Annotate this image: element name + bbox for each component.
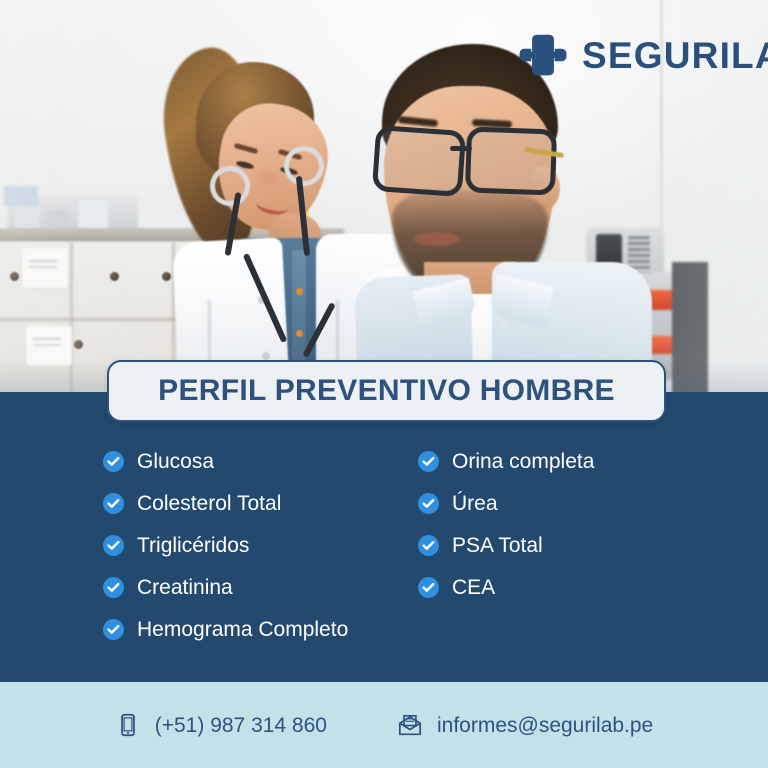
clutter-item	[78, 200, 108, 230]
check-circle-icon	[103, 451, 124, 472]
list-item: Hemograma Completo	[103, 608, 360, 650]
list-item-label: Hemograma Completo	[137, 619, 348, 640]
cabinet-knob	[162, 272, 171, 281]
envelope-icon	[397, 712, 423, 738]
test-list-container: Glucosa Colesterol Total Triglicéridos C…	[0, 440, 768, 650]
cabinet-divider	[70, 242, 73, 400]
list-item: Triglicéridos	[103, 524, 360, 566]
posted-note	[22, 248, 68, 288]
list-item-label: Creatinina	[137, 577, 233, 598]
check-circle-icon	[418, 493, 439, 514]
brand-wordmark: SEGURILAB	[582, 37, 768, 74]
clutter-item	[4, 186, 38, 206]
check-circle-icon	[103, 619, 124, 640]
contact-footer: (+51) 987 314 860 informes@segurilab.pe	[0, 682, 768, 768]
list-item-label: Glucosa	[137, 451, 214, 472]
list-item: Úrea	[418, 482, 720, 524]
page-title: PERFIL PREVENTIVO HOMBRE	[158, 376, 615, 406]
list-item-label: PSA Total	[452, 535, 543, 556]
shirt-button	[296, 330, 303, 337]
list-item: Creatinina	[103, 566, 360, 608]
list-item-label: Colesterol Total	[137, 493, 281, 514]
list-item: CEA	[418, 566, 720, 608]
cabinet-knob	[110, 272, 119, 281]
list-item-label: CEA	[452, 577, 495, 598]
eyeglasses-lens-left	[372, 125, 466, 197]
coat-button	[262, 352, 270, 360]
list-item-label: Triglicéridos	[137, 535, 249, 556]
shirt-button	[296, 288, 303, 295]
posted-note	[26, 326, 72, 366]
cabinet-knob	[74, 340, 83, 349]
phone-contact[interactable]: (+51) 987 314 860	[115, 712, 327, 738]
test-list-left-column: Glucosa Colesterol Total Triglicéridos C…	[0, 440, 360, 650]
doctor-cheek	[252, 168, 286, 188]
check-circle-icon	[418, 451, 439, 472]
clutter-item	[14, 204, 40, 230]
email-contact[interactable]: informes@segurilab.pe	[397, 712, 653, 738]
list-item: PSA Total	[418, 524, 720, 566]
check-circle-icon	[418, 577, 439, 598]
eyeglasses-lens-right	[465, 126, 557, 195]
email-address: informes@segurilab.pe	[437, 715, 653, 736]
patient-mouth	[414, 232, 460, 246]
phone-number: (+51) 987 314 860	[155, 715, 327, 736]
eyeglasses-bridge	[450, 146, 472, 151]
mobile-phone-icon	[115, 712, 141, 738]
brand-logo[interactable]: SEGURILAB	[518, 30, 768, 80]
check-circle-icon	[103, 493, 124, 514]
clutter-item	[48, 210, 68, 230]
shirt-button	[500, 320, 508, 328]
title-banner: PERFIL PREVENTIVO HOMBRE	[107, 360, 666, 422]
check-circle-icon	[103, 535, 124, 556]
medical-cross-icon	[518, 30, 568, 80]
list-item: Glucosa	[103, 440, 360, 482]
test-list-right-column: Orina completa Úrea PSA Total CEA	[360, 440, 720, 650]
list-item: Orina completa	[418, 440, 720, 482]
list-item-label: Orina completa	[452, 451, 594, 472]
check-circle-icon	[418, 535, 439, 556]
list-item: Colesterol Total	[103, 482, 360, 524]
cabinet-knob	[10, 272, 19, 281]
check-circle-icon	[103, 577, 124, 598]
equipment-column	[672, 262, 708, 400]
list-item-label: Úrea	[452, 493, 498, 514]
promo-poster: SEGURILAB PERFIL PREVENTIVO HOMBRE Gluco…	[0, 0, 768, 768]
